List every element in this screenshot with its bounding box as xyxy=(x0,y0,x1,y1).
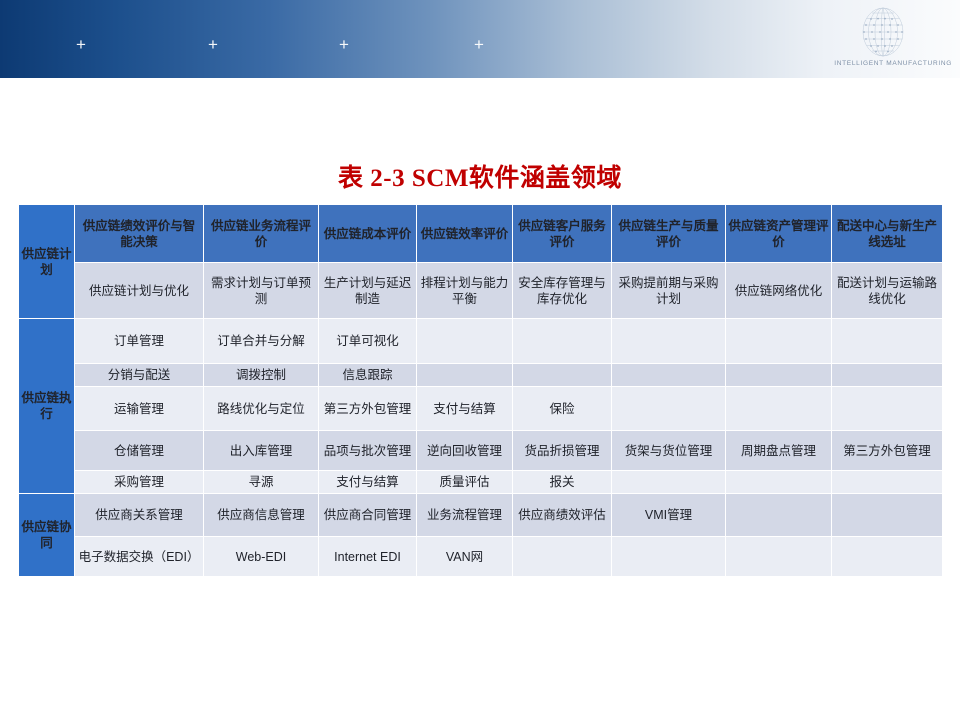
table-cell xyxy=(726,319,832,364)
table-cell: 分销与配送 xyxy=(75,364,204,387)
table-cell: 质量评估 xyxy=(417,471,513,494)
table-cell: 订单管理 xyxy=(75,319,204,364)
table-cell: VAN网 xyxy=(417,537,513,577)
table-cell: 寻源 xyxy=(204,471,319,494)
table-cell: 品项与批次管理 xyxy=(319,431,417,471)
table-cell xyxy=(612,319,726,364)
column-header-2: 供应链业务流程评价 xyxy=(204,205,319,263)
table-cell: 生产计划与延迟制造 xyxy=(319,263,417,319)
table-cell: 支付与结算 xyxy=(319,471,417,494)
table-cell xyxy=(417,364,513,387)
table-cell xyxy=(726,471,832,494)
table-cell xyxy=(513,364,612,387)
table-row: 仓储管理 出入库管理 品项与批次管理 逆向回收管理 货品折损管理 货架与货位管理… xyxy=(19,431,943,471)
table-cell: 排程计划与能力平衡 xyxy=(417,263,513,319)
column-header-8: 配送中心与新生产线选址 xyxy=(832,205,943,263)
table-header-row: 供应链计划 供应链绩效评价与智能决策 供应链业务流程评价 供应链成本评价 供应链… xyxy=(19,205,943,263)
table-cell xyxy=(612,471,726,494)
table-cell xyxy=(726,364,832,387)
table-cell: 业务流程管理 xyxy=(417,494,513,537)
group-label-execution: 供应链执行 xyxy=(19,319,75,494)
table-cell: 货架与货位管理 xyxy=(612,431,726,471)
banner-plus-marker-2: + xyxy=(208,36,218,53)
group-label-plan: 供应链计划 xyxy=(19,205,75,319)
table-cell: 需求计划与订单预测 xyxy=(204,263,319,319)
table-cell: 支付与结算 xyxy=(417,387,513,431)
table-cell: 供应商绩效评估 xyxy=(513,494,612,537)
table-cell xyxy=(726,537,832,577)
banner-plus-marker-3: + xyxy=(339,36,349,53)
table-cell: 路线优化与定位 xyxy=(204,387,319,431)
table-cell: 报关 xyxy=(513,471,612,494)
table-cell: 货品折损管理 xyxy=(513,431,612,471)
table-cell: VMI管理 xyxy=(612,494,726,537)
banner-plus-marker-4: + xyxy=(474,36,484,53)
table-cell: Web-EDI xyxy=(204,537,319,577)
table-cell: 供应链网络优化 xyxy=(726,263,832,319)
table-cell xyxy=(612,364,726,387)
column-header-5: 供应链客户服务评价 xyxy=(513,205,612,263)
table-cell xyxy=(832,471,943,494)
table-cell: 运输管理 xyxy=(75,387,204,431)
table-cell: 出入库管理 xyxy=(204,431,319,471)
sphere-globe-icon xyxy=(848,6,918,58)
table-row: 分销与配送 调拨控制 信息跟踪 xyxy=(19,364,943,387)
table-cell: 供应商信息管理 xyxy=(204,494,319,537)
brand-tagline: INTELLIGENT MANUFACTURING xyxy=(834,60,952,67)
table-cell: 安全库存管理与库存优化 xyxy=(513,263,612,319)
table-cell xyxy=(832,537,943,577)
table-cell: 电子数据交换（EDI） xyxy=(75,537,204,577)
table-cell: 逆向回收管理 xyxy=(417,431,513,471)
table-cell xyxy=(612,387,726,431)
table-row: 运输管理 路线优化与定位 第三方外包管理 支付与结算 保险 xyxy=(19,387,943,431)
table-row: 供应链协同 供应商关系管理 供应商信息管理 供应商合同管理 业务流程管理 供应商… xyxy=(19,494,943,537)
table-cell: 供应商合同管理 xyxy=(319,494,417,537)
column-header-3: 供应链成本评价 xyxy=(319,205,417,263)
table-cell: 供应链计划与优化 xyxy=(75,263,204,319)
table-cell: 仓储管理 xyxy=(75,431,204,471)
table-cell xyxy=(726,494,832,537)
table-cell: Internet EDI xyxy=(319,537,417,577)
table-row: 供应链计划与优化 需求计划与订单预测 生产计划与延迟制造 排程计划与能力平衡 安… xyxy=(19,263,943,319)
table-cell: 第三方外包管理 xyxy=(319,387,417,431)
table-cell: 第三方外包管理 xyxy=(832,431,943,471)
table-cell: 订单合并与分解 xyxy=(204,319,319,364)
table-cell xyxy=(832,364,943,387)
table-cell xyxy=(612,537,726,577)
table-cell: 信息跟踪 xyxy=(319,364,417,387)
table-cell: 采购管理 xyxy=(75,471,204,494)
column-header-1: 供应链绩效评价与智能决策 xyxy=(75,205,204,263)
table-cell xyxy=(513,319,612,364)
header-banner: + + + + xyxy=(0,0,960,78)
table-row: 供应链执行 订单管理 订单合并与分解 订单可视化 xyxy=(19,319,943,364)
table-cell xyxy=(832,319,943,364)
table-cell xyxy=(832,387,943,431)
table-cell: 供应商关系管理 xyxy=(75,494,204,537)
table-cell xyxy=(726,387,832,431)
scm-coverage-table-wrapper: 供应链计划 供应链绩效评价与智能决策 供应链业务流程评价 供应链成本评价 供应链… xyxy=(18,204,942,577)
column-header-6: 供应链生产与质量评价 xyxy=(612,205,726,263)
table-row: 采购管理 寻源 支付与结算 质量评估 报关 xyxy=(19,471,943,494)
table-cell xyxy=(832,494,943,537)
table-cell: 订单可视化 xyxy=(319,319,417,364)
table-cell: 调拨控制 xyxy=(204,364,319,387)
group-label-collaboration: 供应链协同 xyxy=(19,494,75,577)
banner-plus-marker-1: + xyxy=(76,36,86,53)
table-cell: 周期盘点管理 xyxy=(726,431,832,471)
table-cell xyxy=(417,319,513,364)
column-header-7: 供应链资产管理评价 xyxy=(726,205,832,263)
column-header-4: 供应链效率评价 xyxy=(417,205,513,263)
scm-coverage-table: 供应链计划 供应链绩效评价与智能决策 供应链业务流程评价 供应链成本评价 供应链… xyxy=(18,204,943,577)
page-title: 表 2-3 SCM软件涵盖领域 xyxy=(0,158,960,194)
table-row: 电子数据交换（EDI） Web-EDI Internet EDI VAN网 xyxy=(19,537,943,577)
table-cell xyxy=(513,537,612,577)
table-cell: 采购提前期与采购计划 xyxy=(612,263,726,319)
table-cell: 配送计划与运输路线优化 xyxy=(832,263,943,319)
table-cell: 保险 xyxy=(513,387,612,431)
